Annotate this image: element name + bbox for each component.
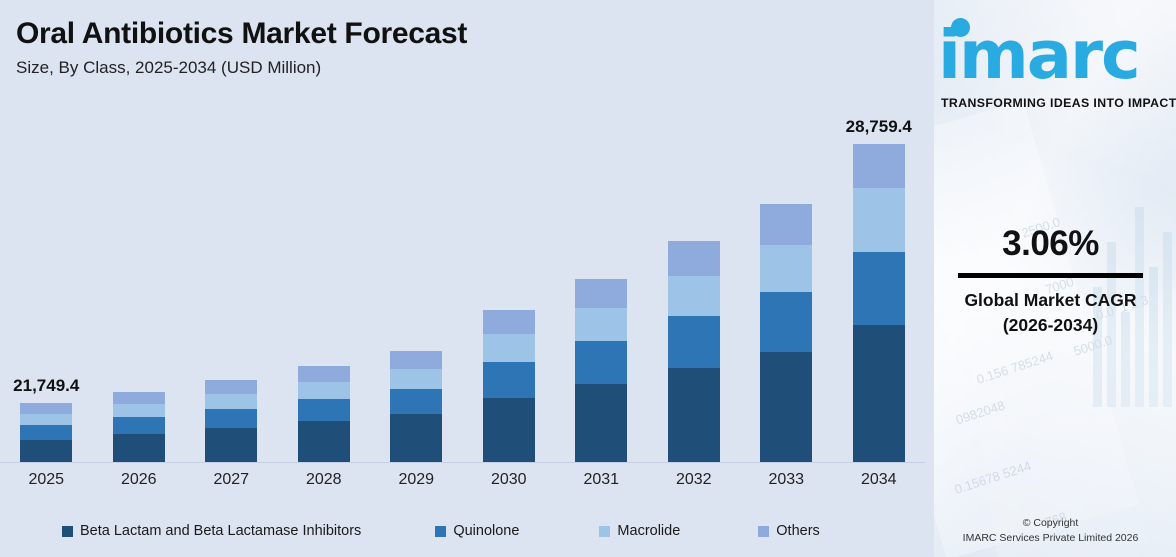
chart-legend: Beta Lactam and Beta Lactamase Inhibitor…: [0, 518, 925, 544]
bar-slot-2027: [185, 100, 278, 462]
bar-segment-quinolone[interactable]: [390, 389, 442, 414]
stacked-bar[interactable]: 21,749.4: [20, 403, 72, 462]
bar-segment-macrolide[interactable]: [483, 334, 535, 362]
bar-segment-others[interactable]: [760, 204, 812, 245]
bar-segment-others[interactable]: [20, 403, 72, 414]
bar-segment-others[interactable]: [298, 366, 350, 382]
page-subtitle: Size, By Class, 2025-2034 (USD Million): [16, 58, 321, 78]
bar-segment-macrolide[interactable]: [20, 414, 72, 425]
bar-segment-others[interactable]: [390, 351, 442, 369]
legend-label: Quinolone: [453, 523, 519, 539]
bar-slot-2034: 28,759.4: [833, 100, 926, 462]
bar-segment-quinolone[interactable]: [113, 417, 165, 434]
stacked-bar[interactable]: [113, 392, 165, 462]
bar-segment-beta-lactam-and-beta-lactamase-inhibitors[interactable]: [298, 421, 350, 462]
brand-side-panel: 0.156 785244 0.15678 5244 0982048 768 50…: [925, 0, 1176, 557]
bar-segment-quinolone[interactable]: [853, 252, 905, 325]
stacked-bar[interactable]: [205, 380, 257, 462]
legend-label: Others: [776, 523, 820, 539]
bar-slot-2028: [278, 100, 371, 462]
copyright-notice: © Copyright IMARC Services Private Limit…: [925, 516, 1176, 546]
bar-segment-beta-lactam-and-beta-lactamase-inhibitors[interactable]: [575, 384, 627, 462]
legend-swatch-icon: [435, 526, 446, 537]
legend-item-beta-lactam-and-beta-lactamase-inhibitors[interactable]: Beta Lactam and Beta Lactamase Inhibitor…: [62, 523, 361, 539]
stacked-bar[interactable]: [390, 351, 442, 462]
legend-swatch-icon: [62, 526, 73, 537]
bar-slot-2033: [740, 100, 833, 462]
bar-slot-2032: [648, 100, 741, 462]
cagr-divider: [958, 273, 1143, 278]
bar-segment-quinolone[interactable]: [575, 341, 627, 384]
stacked-bar[interactable]: [298, 366, 350, 462]
legend-label: Macrolide: [617, 523, 680, 539]
bar-slot-2025: 21,749.4: [0, 100, 93, 462]
copyright-line-1: © Copyright: [925, 516, 1176, 531]
legend-label: Beta Lactam and Beta Lactamase Inhibitor…: [80, 523, 361, 539]
bar-segment-quinolone[interactable]: [483, 362, 535, 398]
legend-item-others[interactable]: Others: [758, 523, 820, 539]
bar-segment-beta-lactam-and-beta-lactamase-inhibitors[interactable]: [483, 398, 535, 462]
bar-segment-macrolide[interactable]: [298, 382, 350, 399]
cagr-label-line-2: (2026-2034): [925, 313, 1176, 338]
page-title: Oral Antibiotics Market Forecast: [16, 17, 467, 51]
x-tick-2031: 2031: [555, 471, 648, 489]
x-axis-tick-labels: 2025202620272028202920302031203220332034: [0, 466, 925, 494]
x-tick-2033: 2033: [740, 471, 833, 489]
chart-screenshot: Oral Antibiotics Market Forecast Size, B…: [0, 0, 1176, 557]
bar-segment-beta-lactam-and-beta-lactamase-inhibitors[interactable]: [113, 434, 165, 462]
x-tick-2032: 2032: [648, 471, 741, 489]
bar-segment-beta-lactam-and-beta-lactamase-inhibitors[interactable]: [390, 414, 442, 462]
bar-segment-others[interactable]: [483, 310, 535, 334]
bar-segment-macrolide[interactable]: [205, 394, 257, 409]
bar-segment-beta-lactam-and-beta-lactamase-inhibitors[interactable]: [205, 428, 257, 462]
bar-segment-others[interactable]: [113, 392, 165, 404]
legend-item-macrolide[interactable]: Macrolide: [599, 523, 680, 539]
stacked-bar[interactable]: 28,759.4: [853, 144, 905, 462]
bar-segment-macrolide[interactable]: [668, 276, 720, 316]
legend-swatch-icon: [599, 526, 610, 537]
bar-segment-macrolide[interactable]: [760, 245, 812, 292]
bar-segment-quinolone[interactable]: [20, 425, 72, 440]
bar-slot-2030: [463, 100, 556, 462]
x-tick-2027: 2027: [185, 471, 278, 489]
bar-group: 21,749.428,759.4: [0, 100, 925, 462]
x-tick-2030: 2030: [463, 471, 556, 489]
imarc-logo: imarc TRANSFORMING IDEAS INTO IMPACT: [925, 8, 1176, 108]
bar-segment-quinolone[interactable]: [298, 399, 350, 421]
bar-segment-macrolide[interactable]: [390, 369, 442, 389]
cagr-callout: 3.06% Global Market CAGR (2026-2034): [925, 225, 1176, 338]
copyright-line-2: IMARC Services Private Limited 2026: [925, 531, 1176, 546]
stacked-bar[interactable]: [575, 279, 627, 462]
x-tick-2034: 2034: [833, 471, 926, 489]
bar-segment-beta-lactam-and-beta-lactamase-inhibitors[interactable]: [20, 440, 72, 462]
x-tick-2028: 2028: [278, 471, 371, 489]
cagr-label-line-1: Global Market CAGR: [925, 288, 1176, 313]
bar-segment-beta-lactam-and-beta-lactamase-inhibitors[interactable]: [853, 325, 905, 462]
legend-swatch-icon: [758, 526, 769, 537]
bar-segment-others[interactable]: [668, 241, 720, 276]
x-tick-2025: 2025: [0, 471, 93, 489]
x-axis-line: [0, 462, 925, 463]
stacked-bar[interactable]: [668, 241, 720, 462]
legend-item-quinolone[interactable]: Quinolone: [435, 523, 519, 539]
plot-area: 21,749.428,759.4: [0, 100, 925, 462]
bar-slot-2031: [555, 100, 648, 462]
x-tick-2029: 2029: [370, 471, 463, 489]
bar-value-label: 28,759.4: [846, 117, 912, 137]
bar-slot-2029: [370, 100, 463, 462]
bar-segment-quinolone[interactable]: [668, 316, 720, 368]
logo-wordmark: imarc: [938, 22, 1139, 89]
bar-segment-others[interactable]: [853, 144, 905, 188]
bar-segment-macrolide[interactable]: [113, 404, 165, 417]
bar-value-label: 21,749.4: [13, 376, 79, 396]
cagr-value: 3.06%: [925, 225, 1176, 264]
bar-segment-beta-lactam-and-beta-lactamase-inhibitors[interactable]: [668, 368, 720, 462]
bar-segment-beta-lactam-and-beta-lactamase-inhibitors[interactable]: [760, 352, 812, 462]
bar-slot-2026: [93, 100, 186, 462]
bar-segment-macrolide[interactable]: [575, 308, 627, 341]
stacked-bar[interactable]: [760, 204, 812, 462]
logo-tagline: TRANSFORMING IDEAS INTO IMPACT: [941, 96, 1176, 110]
x-tick-2026: 2026: [93, 471, 186, 489]
chart-panel: Oral Antibiotics Market Forecast Size, B…: [0, 0, 925, 557]
bar-segment-quinolone[interactable]: [205, 409, 257, 428]
bar-segment-others[interactable]: [205, 380, 257, 394]
stacked-bar[interactable]: [483, 310, 535, 462]
bar-segment-quinolone[interactable]: [760, 292, 812, 352]
bar-segment-macrolide[interactable]: [853, 188, 905, 252]
bar-segment-others[interactable]: [575, 279, 627, 308]
